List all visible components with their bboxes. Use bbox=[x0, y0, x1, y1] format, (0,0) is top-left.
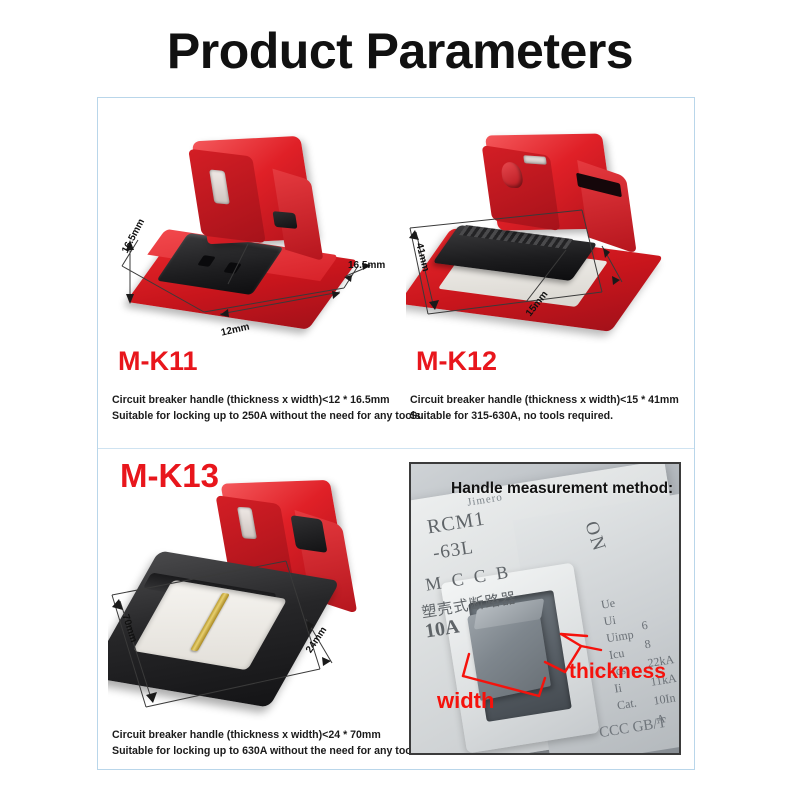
product-image-m-k11: 16.5mm 12mm 16.5mm bbox=[108, 116, 393, 344]
usage-line-m-k12: Suitable for 315-630A, no tools required… bbox=[410, 408, 679, 424]
parameters-board: 16.5mm 12mm 16.5mm M-K11 Circuit breaker… bbox=[97, 97, 695, 770]
product-cell-m-k12: 41mm 15mm M-K12 Circuit breaker handle (… bbox=[396, 98, 694, 448]
top-row: 16.5mm 12mm 16.5mm M-K11 Circuit breaker… bbox=[98, 98, 694, 448]
spec-line-m-k12: Circuit breaker handle (thickness x widt… bbox=[410, 392, 679, 408]
model-label-m-k12: M-K12 bbox=[416, 346, 497, 377]
model-label-m-k11: M-K11 bbox=[118, 346, 198, 377]
description-m-k11: Circuit breaker handle (thickness x widt… bbox=[112, 392, 424, 424]
k11-dim-right: 16.5mm bbox=[348, 260, 385, 271]
product-cell-m-k13: M-K13 bbox=[98, 449, 396, 770]
product-image-m-k12: 41mm 15mm bbox=[406, 116, 691, 344]
product-image-m-k13: 70mm 24mm bbox=[108, 473, 393, 723]
page-title: Product Parameters bbox=[0, 0, 800, 80]
description-m-k12: Circuit breaker handle (thickness x widt… bbox=[410, 392, 679, 424]
bottom-row: M-K13 bbox=[98, 449, 694, 770]
k13-dimension-lines bbox=[108, 473, 393, 723]
product-cell-m-k11: 16.5mm 12mm 16.5mm M-K11 Circuit breaker… bbox=[98, 98, 396, 448]
k12-dimension-lines bbox=[406, 116, 691, 344]
usage-line-m-k11: Suitable for locking up to 250A without … bbox=[112, 408, 424, 424]
measurement-photo-cell: Jimero RCM1 -63L M C C B 塑壳式断路器 10A ON U… bbox=[396, 449, 694, 770]
k11-dimension-lines bbox=[108, 116, 393, 344]
thickness-label: thickness bbox=[569, 660, 666, 684]
photo-panel-title: Handle measurement method: bbox=[451, 480, 673, 498]
spec-line-m-k11: Circuit breaker handle (thickness x widt… bbox=[112, 392, 424, 408]
description-m-k13: Circuit breaker handle (thickness x widt… bbox=[112, 727, 424, 759]
width-label: width bbox=[437, 688, 494, 714]
usage-line-m-k13: Suitable for locking up to 630A without … bbox=[112, 743, 424, 759]
spec-line-m-k13: Circuit breaker handle (thickness x widt… bbox=[112, 727, 424, 743]
handle-measurement-photo: Jimero RCM1 -63L M C C B 塑壳式断路器 10A ON U… bbox=[409, 462, 681, 755]
